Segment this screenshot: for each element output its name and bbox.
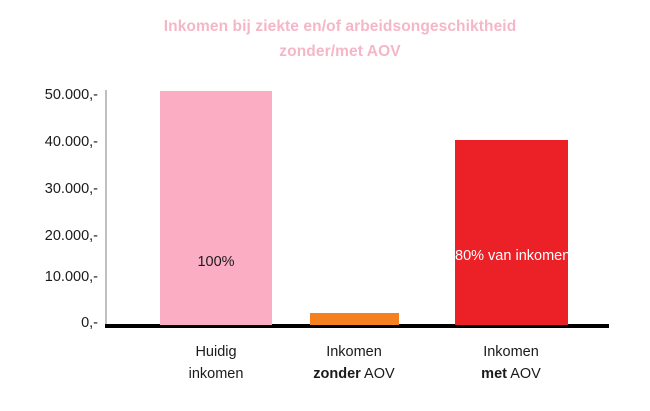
bar-data-label-huidig-inkomen: 100% [160, 252, 272, 273]
bar-data-label-inkomen-met-aov: 80% van inkomen [455, 246, 568, 267]
category-line-1: Inkomen [441, 341, 581, 363]
category-emphasis: zonder [313, 366, 361, 382]
chart-canvas: Inkomen bij ziekte en/of arbeidsongeschi… [0, 0, 650, 411]
category-line-2: zonder AOV [284, 363, 424, 385]
plot-area: 50.000,- 40.000,- 30.000,- 20.000,- 10.0… [0, 0, 650, 411]
category-line-1: Huidig [146, 341, 286, 363]
category-rest: AOV [507, 366, 541, 382]
y-axis-tick-label-0: 0,- [0, 315, 98, 331]
bar-data-label-line-1: 80% van [455, 248, 511, 264]
y-axis-tick-label-30000: 30.000,- [0, 181, 98, 197]
y-axis-tick-label-40000: 40.000,- [0, 134, 98, 150]
y-axis-tick-label-20000: 20.000,- [0, 228, 98, 244]
x-axis-category-huidig-inkomen: Huidig inkomen [146, 341, 286, 385]
category-rest: AOV [361, 366, 395, 382]
bar-inkomen-zonder-aov[interactable] [310, 313, 399, 325]
category-line-2: inkomen [146, 363, 286, 385]
bar-data-label-line-2: inkomen [515, 248, 570, 264]
x-axis-category-inkomen-zonder-aov: Inkomen zonder AOV [284, 341, 424, 385]
category-line-2: met AOV [441, 363, 581, 385]
bar-huidig-inkomen[interactable] [160, 91, 272, 325]
x-axis-category-inkomen-met-aov: Inkomen met AOV [441, 341, 581, 385]
y-axis-line [105, 90, 107, 326]
y-axis-tick-label-10000: 10.000,- [0, 269, 98, 285]
category-line-1: Inkomen [284, 341, 424, 363]
y-axis-tick-label-50000: 50.000,- [0, 87, 98, 103]
category-emphasis: met [481, 366, 507, 382]
bar-inkomen-met-aov[interactable] [455, 140, 568, 325]
